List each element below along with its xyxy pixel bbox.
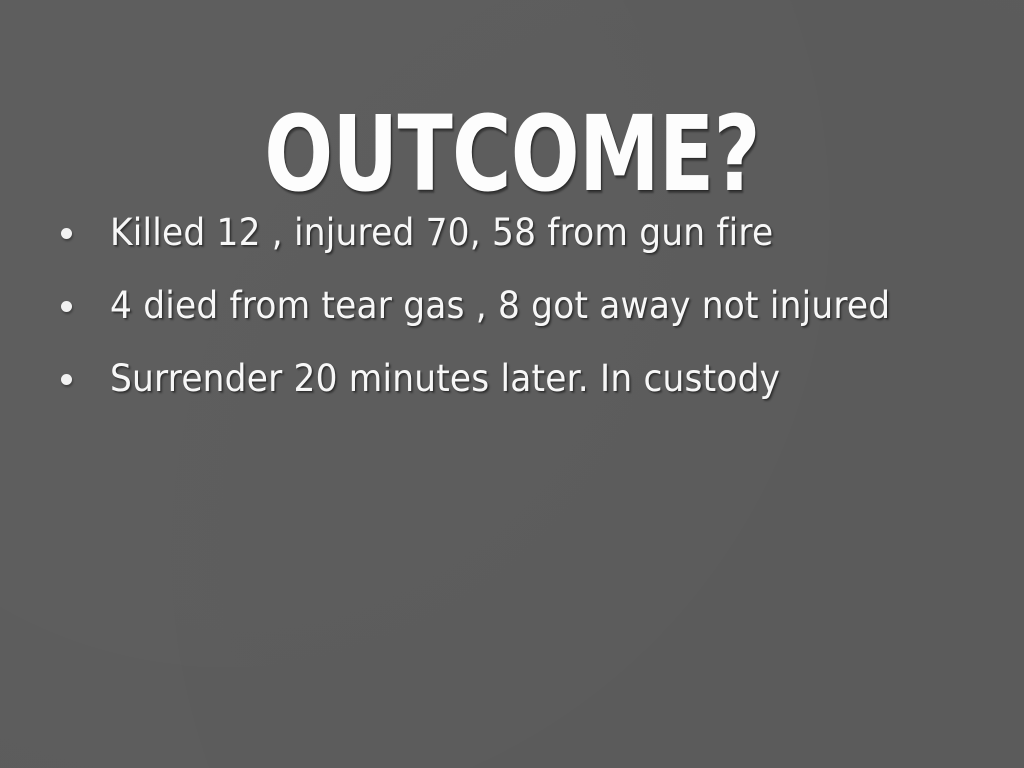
list-item: 4 died from tear gas , 8 got away not in… bbox=[0, 269, 1024, 342]
bullet-text: Surrender 20 minutes later. In custody bbox=[110, 358, 780, 400]
bullet-dot-icon bbox=[61, 301, 72, 312]
bullet-list: Killed 12 , injured 70, 58 from gun fire… bbox=[0, 196, 1024, 415]
list-item: Killed 12 , injured 70, 58 from gun fire bbox=[0, 196, 1024, 269]
bullet-dot-icon bbox=[61, 374, 72, 385]
bullet-dot-icon bbox=[61, 228, 72, 239]
list-item: Surrender 20 minutes later. In custody bbox=[0, 342, 1024, 415]
bullet-text: Killed 12 , injured 70, 58 from gun fire bbox=[110, 212, 773, 254]
presentation-slide: OUTCOME? Killed 12 , injured 70, 58 from… bbox=[0, 0, 1024, 768]
bullet-text: 4 died from tear gas , 8 got away not in… bbox=[110, 285, 890, 327]
slide-title: OUTCOME? bbox=[113, 104, 912, 204]
